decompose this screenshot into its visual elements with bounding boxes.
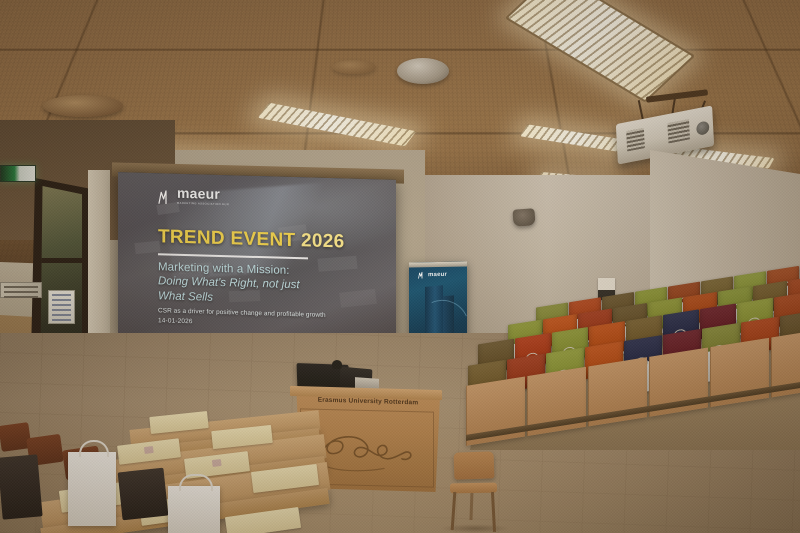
door-notice-sign [48, 290, 75, 324]
slide-divider [158, 253, 308, 259]
gift-bag[interactable] [68, 452, 116, 526]
slide-title-main: TREND EVENT [158, 226, 295, 251]
maeur-mark-icon [418, 271, 426, 279]
smoke-detector-icon [397, 58, 449, 84]
loose-chair-back[interactable] [454, 451, 495, 479]
lectern-microphone-icon [332, 360, 342, 369]
wall-speaker-icon [512, 208, 535, 226]
folder-logo [144, 446, 154, 454]
folder-logo [212, 459, 222, 467]
maeur-logo-subtitle: MARKETING ASSOCIATION EUR [177, 202, 229, 206]
slide-content: maeur MARKETING ASSOCIATION EUR TREND EV… [118, 172, 396, 344]
maeur-wordmark: maeur [177, 186, 229, 201]
banner-top-rail [409, 261, 467, 267]
ceiling-vent-icon [43, 95, 123, 117]
slide-title-year: 2026 [301, 230, 344, 252]
erasmus-signature-icon [314, 427, 420, 476]
exit-sign-icon [0, 165, 36, 182]
lecture-hall-photo: maeur MARKETING ASSOCIATION EUR TREND EV… [0, 0, 800, 533]
smoke-detector-icon [332, 60, 376, 74]
banner-maeur-logo: maeur [418, 271, 447, 280]
banner-wordmark: maeur [428, 272, 447, 278]
maeur-mark-icon [158, 189, 174, 204]
projection-screen: maeur MARKETING ASSOCIATION EUR TREND EV… [118, 172, 396, 344]
maeur-logo: maeur MARKETING ASSOCIATION EUR [158, 185, 384, 210]
wall-plaque [0, 282, 42, 298]
jacket-on-seat [0, 454, 43, 519]
slide-title: TREND EVENT 2026 [158, 226, 384, 254]
jacket-on-seat [118, 468, 169, 521]
gift-bag[interactable] [168, 486, 220, 533]
